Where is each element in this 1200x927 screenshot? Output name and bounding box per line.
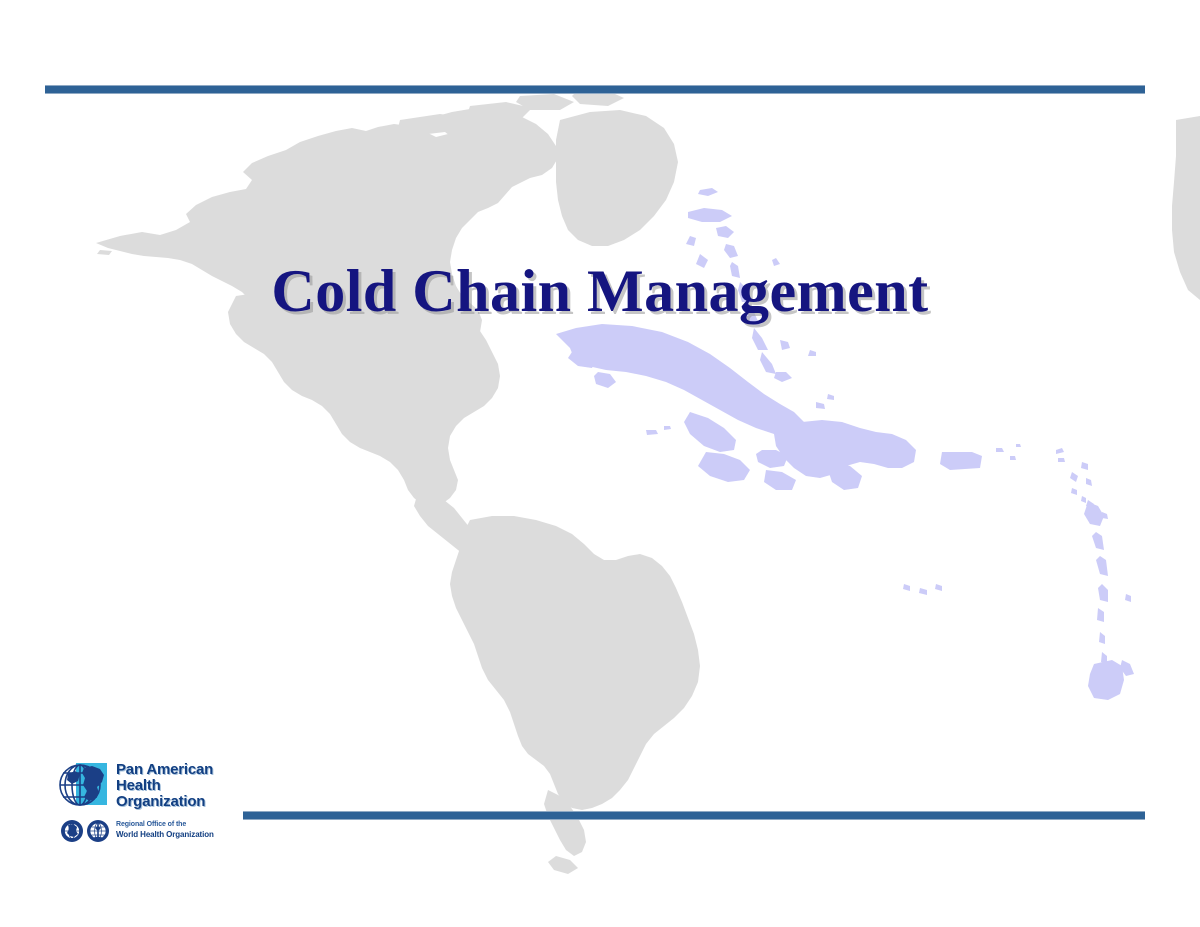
presentation-slide: Cold Chain Management bbox=[0, 0, 1200, 927]
logo-line-1: Pan American bbox=[116, 762, 256, 778]
paho-logo-secondary: Regional Office of the World Health Orga… bbox=[58, 819, 258, 855]
logo-line-2: Health bbox=[116, 778, 256, 794]
who-emblem-icon bbox=[86, 819, 110, 843]
paho-logo-primary: Pan American Health Organization bbox=[58, 760, 258, 816]
logo-subtitle-line-1: Regional Office of the bbox=[116, 820, 266, 830]
bottom-divider bbox=[243, 811, 1145, 820]
un-emblem-icon bbox=[60, 819, 84, 843]
paho-logo: Pan American Health Organization bbox=[58, 760, 258, 860]
paho-logo-name: Pan American Health Organization bbox=[116, 762, 256, 810]
top-divider bbox=[45, 85, 1145, 94]
logo-line-3: Organization bbox=[116, 794, 256, 810]
title-container: Cold Chain Management bbox=[0, 258, 1200, 324]
paho-globe-icon bbox=[58, 760, 110, 812]
paho-logo-subtitle: Regional Office of the World Health Orga… bbox=[116, 820, 266, 840]
map-landmasses-gray bbox=[96, 90, 1200, 874]
logo-subtitle-line-2: World Health Organization bbox=[116, 830, 266, 840]
page-title: Cold Chain Management bbox=[271, 258, 928, 324]
